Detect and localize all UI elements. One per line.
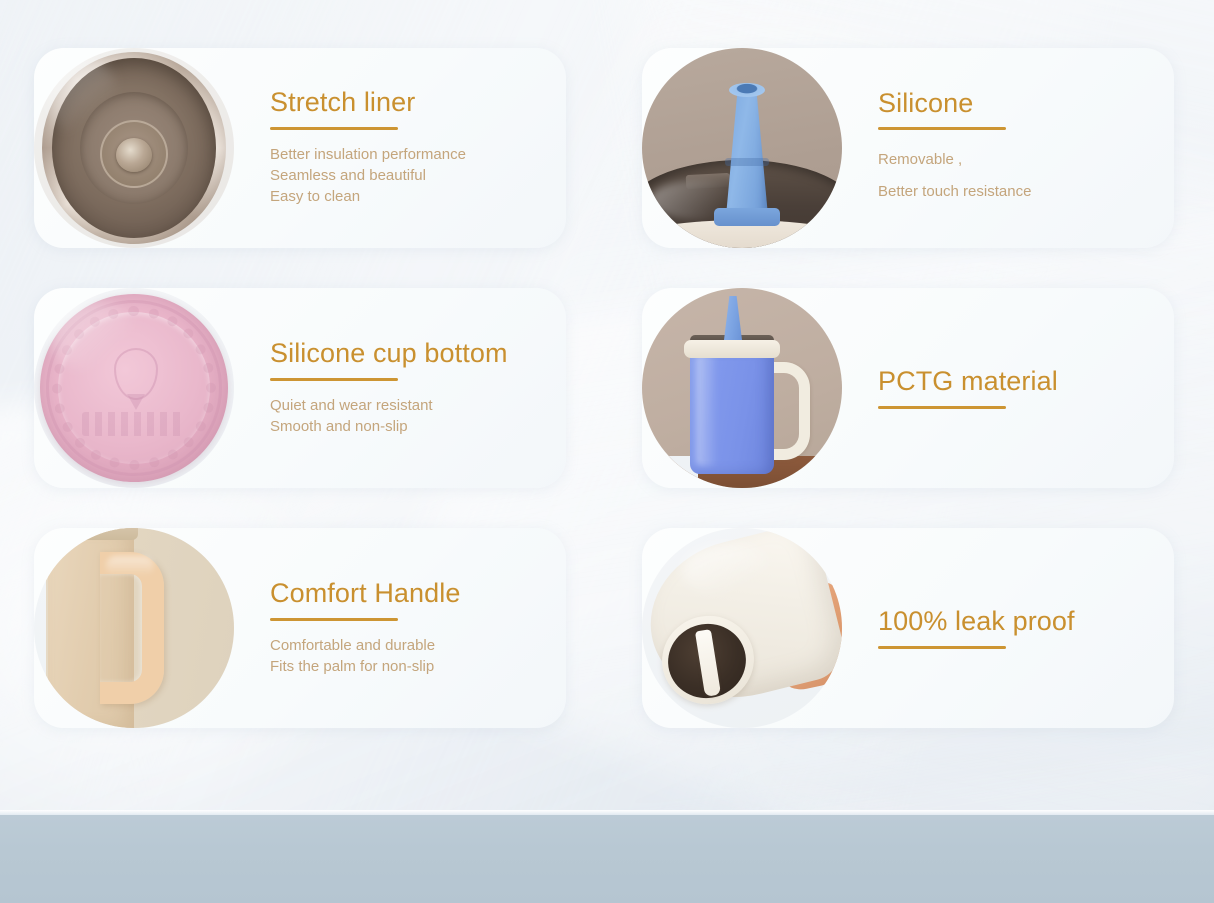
- feature-title: Silicone: [878, 89, 1156, 119]
- feature-copy: Silicone Removable , Better touch resist…: [842, 89, 1174, 208]
- feature-title: 100% leak proof: [878, 607, 1156, 637]
- pink-silicone-base-photo: [34, 288, 234, 488]
- feature-description: Comfortable and durable Fits the palm fo…: [270, 635, 548, 678]
- feature-card-grid: Stretch liner Better insulation performa…: [34, 48, 1194, 728]
- feature-card-stretch-liner: Stretch liner Better insulation performa…: [34, 48, 566, 248]
- feature-card-pctg-material: PCTG material: [642, 288, 1174, 488]
- feature-title: Silicone cup bottom: [270, 339, 548, 369]
- feature-card-leak-proof: 100% leak proof: [642, 528, 1174, 728]
- feature-copy: Comfort Handle Comfortable and durable F…: [234, 579, 566, 677]
- feature-card-silicone-cup-bottom: Silicone cup bottom Quiet and wear resis…: [34, 288, 566, 488]
- blue-tumbler-photo: [642, 288, 842, 488]
- feature-card-silicone: Silicone Removable , Better touch resist…: [642, 48, 1174, 248]
- feature-copy: 100% leak proof: [842, 607, 1174, 649]
- feature-line: Fits the palm for non-slip: [270, 656, 548, 677]
- feature-copy: Stretch liner Better insulation performa…: [234, 88, 566, 208]
- feature-card-comfort-handle: Comfort Handle Comfortable and durable F…: [34, 528, 566, 728]
- silicone-spout-photo: [642, 48, 842, 248]
- feature-title: PCTG material: [878, 367, 1156, 397]
- feature-line: Better touch resistance: [878, 176, 1156, 208]
- feature-description: Removable , Better touch resistance: [878, 144, 1156, 207]
- feature-line: Removable ,: [878, 144, 1156, 176]
- feature-copy: Silicone cup bottom Quiet and wear resis…: [234, 339, 566, 437]
- tumbler-handle-photo: [34, 528, 234, 728]
- feature-description: Better insulation performance Seamless a…: [270, 144, 548, 208]
- feature-line: Easy to clean: [270, 186, 548, 207]
- feature-copy: PCTG material: [842, 367, 1174, 409]
- title-underline: [270, 378, 398, 381]
- feature-line: Smooth and non-slip: [270, 416, 548, 437]
- feature-description: Quiet and wear resistant Smooth and non-…: [270, 395, 548, 438]
- title-underline: [878, 127, 1006, 130]
- title-underline: [270, 127, 398, 130]
- title-underline: [878, 646, 1006, 649]
- feature-line: Better insulation performance: [270, 144, 548, 165]
- title-underline: [878, 406, 1006, 409]
- infographic-canvas: Stretch liner Better insulation performa…: [0, 0, 1214, 903]
- footer-band: [0, 815, 1214, 903]
- cup-interior-photo: [34, 48, 234, 248]
- feature-title: Comfort Handle: [270, 579, 548, 609]
- feature-line: Quiet and wear resistant: [270, 395, 548, 416]
- feature-title: Stretch liner: [270, 88, 548, 118]
- feature-line: Seamless and beautiful: [270, 165, 548, 186]
- title-underline: [270, 618, 398, 621]
- feature-line: Comfortable and durable: [270, 635, 548, 656]
- tilted-tumbler-in-hand-photo: [642, 528, 842, 728]
